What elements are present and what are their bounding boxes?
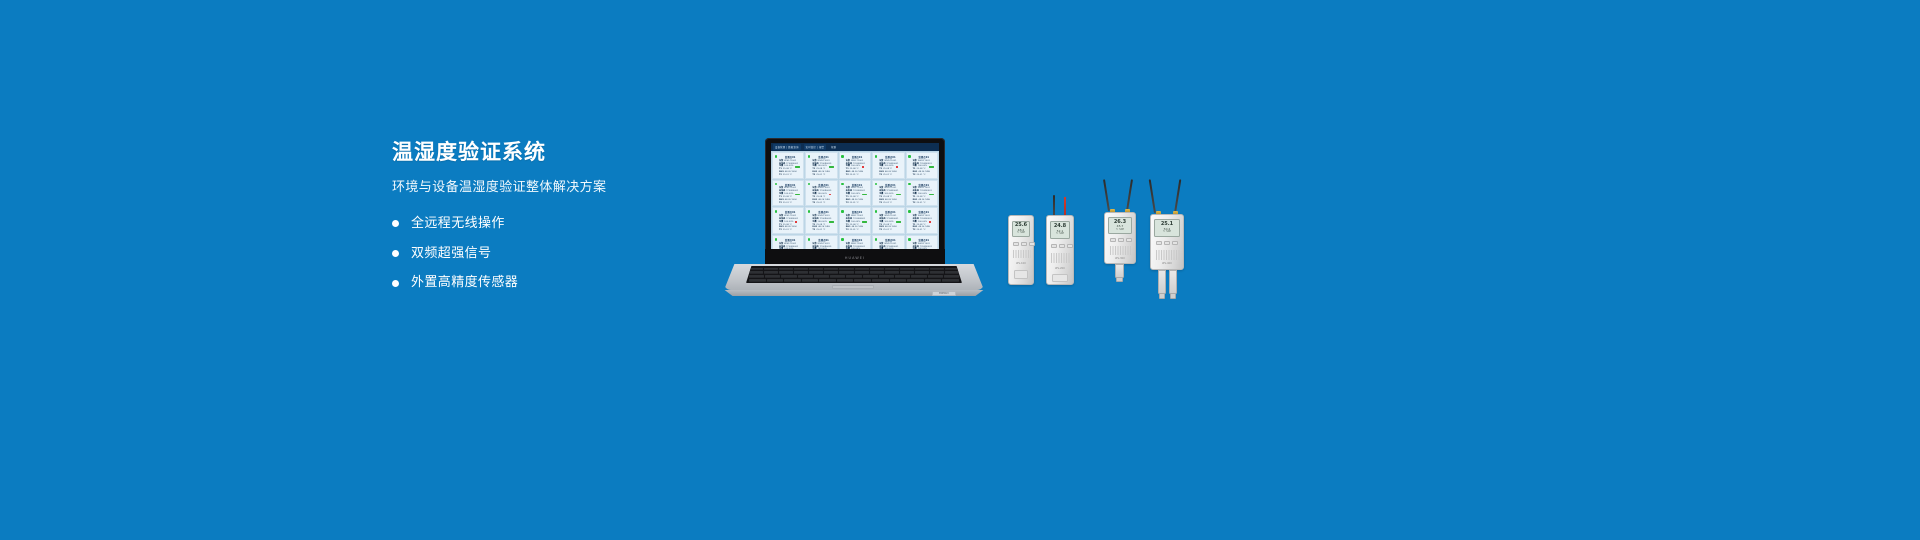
device-probe-logger-long: 25.1 50.4 ℃ %RH WS-400 <box>1150 179 1184 309</box>
row-value: 25.01 ℃ <box>916 174 925 177</box>
keyboard-key[interactable] <box>830 275 845 278</box>
monitor-card-title: 监测点01 <box>812 210 834 214</box>
monitor-card[interactable]: 监测点01设备WSD-T1001采集器TC00R0001电量100.00%T12… <box>872 207 904 234</box>
monitor-card-title: 监测点01 <box>812 238 834 242</box>
keypad-button[interactable] <box>1051 244 1057 248</box>
row-key: T2 <box>779 229 782 232</box>
device-lcd-display: 26.3 45.7 ℃ %RH <box>1108 217 1132 234</box>
keyboard-key[interactable] <box>945 268 959 271</box>
device-lower-panel <box>1052 274 1068 282</box>
monitor-card[interactable]: 监测点01设备WSD-T1001采集器TC00R0001电量100.00%T12… <box>839 235 871 249</box>
device-keypad[interactable] <box>1051 244 1073 248</box>
keyboard-key[interactable] <box>846 275 861 278</box>
keyboard-key[interactable] <box>855 268 869 271</box>
status-dot-icon <box>875 155 878 158</box>
keyboard-key[interactable] <box>802 279 819 282</box>
keyboard-key[interactable] <box>915 271 929 274</box>
keyboard-key[interactable] <box>781 275 796 278</box>
monitor-card[interactable]: 监测点01设备WSD-T1001采集器TC00R0001电量100.00%T12… <box>805 152 837 179</box>
keyboard-key[interactable] <box>794 271 808 274</box>
keyboard-key[interactable] <box>779 271 793 274</box>
monitor-card-row: T225.01 ℃ <box>913 229 935 232</box>
keypad-button[interactable] <box>1126 238 1132 242</box>
device-vent <box>1156 250 1180 260</box>
monitor-card-row: T225.01 ℃ <box>846 229 868 232</box>
keyboard-key[interactable] <box>837 279 854 282</box>
device-lcd-display: 25.1 50.4 ℃ %RH <box>1154 219 1180 237</box>
row-value: 25.01 ℃ <box>916 229 925 232</box>
monitor-card[interactable]: 监测点01设备WSD-T1001采集器TC00R0001电量100.00%T12… <box>839 152 871 179</box>
keyboard-key[interactable] <box>839 268 853 271</box>
keypad-button[interactable] <box>1059 244 1065 248</box>
row-key: T2 <box>913 229 916 232</box>
monitor-card[interactable]: 监测点01设备WSD-T1001采集器TC00R0001电量100.00%T12… <box>772 235 804 249</box>
row-key: T2 <box>779 174 782 177</box>
lcd-unit-label: ℃ %RH <box>1163 231 1171 233</box>
device-vent <box>1013 250 1031 258</box>
row-value: 25.01 ℃ <box>783 174 792 177</box>
row-key: T2 <box>846 229 849 232</box>
status-dot-icon <box>875 210 878 213</box>
monitor-card[interactable]: 监测点01设备WSD-T1001采集器TC00R0001电量100.00%T12… <box>839 180 871 207</box>
row-key: T2 <box>913 202 916 205</box>
status-dot-icon <box>775 238 778 241</box>
row-key: T2 <box>812 174 815 177</box>
monitor-card-row: T225.01 ℃ <box>812 174 834 177</box>
laptop-keyboard[interactable] <box>746 266 962 283</box>
monitor-card[interactable]: 监测点01设备WSD-T1001采集器TC00R0001电量100.00%T12… <box>906 152 938 179</box>
status-dot-icon <box>775 155 778 158</box>
monitor-card-title: 监测点01 <box>913 210 935 214</box>
keyboard-row[interactable] <box>749 279 959 282</box>
lcd-unit-label: ℃ %RH <box>1017 232 1025 234</box>
monitor-card-row: T225.01 ℃ <box>846 174 868 177</box>
row-key: T2 <box>812 202 815 205</box>
keyboard-key[interactable] <box>809 268 823 271</box>
monitor-card-grid: 监测点01设备WSD-T1001采集器TC00R0001电量100.00%T12… <box>771 151 939 249</box>
row-key: T2 <box>879 174 882 177</box>
keyboard-key[interactable] <box>911 275 926 278</box>
laptop-lid: 设备管理 | 数据查询 实时监控 | 报警 帮助 监测点01设备WSD-T100… <box>765 138 945 266</box>
keyboard-key[interactable] <box>890 279 907 282</box>
keyboard-key[interactable] <box>839 271 853 274</box>
keyboard-key[interactable] <box>764 268 778 271</box>
keyboard-key[interactable] <box>855 271 869 274</box>
status-dot-icon <box>841 183 844 186</box>
row-key: T2 <box>879 202 882 205</box>
device-handheld-logger-antenna: 24.8 52.1 ℃ %RH WS-200 <box>1046 195 1074 285</box>
laptop-illustration: 设备管理 | 数据查询 实时监控 | 报警 帮助 监测点01设备WSD-T100… <box>720 138 988 298</box>
monitor-card-title: 监测点01 <box>879 210 901 214</box>
row-key: T2 <box>846 174 849 177</box>
monitor-card-title: 监测点01 <box>879 238 901 242</box>
monitor-card-title: 监测点01 <box>846 238 868 242</box>
monitor-card-row: T225.01 ℃ <box>779 174 801 177</box>
keyboard-row[interactable] <box>749 268 959 271</box>
laptop-screen: 设备管理 | 数据查询 实时监控 | 报警 帮助 监测点01设备WSD-T100… <box>771 143 939 249</box>
bullet-dot-icon <box>392 250 399 257</box>
probe-sensor-tip <box>1159 293 1165 299</box>
keyboard-key[interactable] <box>885 268 899 271</box>
keyboard-key[interactable] <box>749 271 763 274</box>
keyboard-key[interactable] <box>819 279 836 282</box>
monitor-card-title: 监测点01 <box>913 155 935 159</box>
monitor-card-row: T225.01 ℃ <box>779 229 801 232</box>
row-value: 25.01 ℃ <box>850 174 859 177</box>
status-dot-icon <box>841 210 844 213</box>
list-item: 外置高精度传感器 <box>392 275 722 291</box>
keyboard-key[interactable] <box>930 268 944 271</box>
status-dot-icon <box>908 155 911 158</box>
monitor-card-title: 监测点01 <box>913 238 935 242</box>
keyboard-key[interactable] <box>814 275 829 278</box>
keyboard-key[interactable] <box>784 279 801 282</box>
device-probe-logger-dual: 26.3 45.7 ℃ %RH WS-300 <box>1104 179 1136 285</box>
status-dot-icon <box>875 183 878 186</box>
keyboard-key[interactable] <box>945 271 959 274</box>
list-item: 全远程无线操作 <box>392 216 722 232</box>
keyboard-key[interactable] <box>872 279 889 282</box>
monitor-card-title: 监测点01 <box>779 155 801 159</box>
keyboard-key[interactable] <box>749 279 766 282</box>
device-shell: 26.3 45.7 ℃ %RH WS-300 <box>1104 212 1136 264</box>
row-value: 25.01 ℃ <box>883 202 892 205</box>
status-dot-icon <box>808 238 811 241</box>
monitor-card[interactable]: 监测点01设备WSD-T1001采集器TC00R0001电量100.00%T12… <box>772 152 804 179</box>
monitor-card-title: 监测点01 <box>812 155 834 159</box>
row-key: T2 <box>812 229 815 232</box>
keyboard-key[interactable] <box>915 268 929 271</box>
status-dot-icon <box>808 183 811 186</box>
monitor-card-title: 监测点01 <box>846 210 868 214</box>
feature-list: 全远程无线操作 双频超强信号 外置高精度传感器 <box>392 216 722 291</box>
monitor-card-title: 监测点01 <box>779 238 801 242</box>
keyboard-key[interactable] <box>928 275 943 278</box>
list-item: 双频超强信号 <box>392 246 722 262</box>
monitor-card[interactable]: 监测点01设备WSD-T1001采集器TC00R0001电量100.00%T12… <box>805 207 837 234</box>
monitor-card[interactable]: 监测点01设备WSD-T1001采集器TC00R0001电量100.00%T12… <box>872 180 904 207</box>
keyboard-key[interactable] <box>767 279 784 282</box>
keyboard-key[interactable] <box>765 275 780 278</box>
hero-banner: 温湿度验证系统 环境与设备温湿度验证整体解决方案 全远程无线操作 双频超强信号 … <box>0 0 1920 540</box>
monitor-card-row: T225.01 ℃ <box>879 174 901 177</box>
keyboard-key[interactable] <box>749 275 764 278</box>
device-keypad[interactable] <box>1013 242 1035 246</box>
row-value: 25.01 ℃ <box>783 229 792 232</box>
row-value: 25.01 ℃ <box>783 202 792 205</box>
device-lower-panel <box>1014 270 1028 279</box>
feature-label: 双频超强信号 <box>411 246 491 262</box>
keypad-button[interactable] <box>1156 241 1162 245</box>
keyboard-key[interactable] <box>863 275 878 278</box>
device-lcd-display: 24.8 52.1 ℃ %RH <box>1050 221 1070 239</box>
laptop-sticker: ENERGY <box>932 291 956 296</box>
keypad-button[interactable] <box>1013 242 1019 246</box>
antenna-left-icon <box>1053 195 1055 217</box>
device-model-label: WS-400 <box>1151 262 1183 265</box>
row-value: 25.01 ℃ <box>816 202 825 205</box>
lcd-unit-label: ℃ %RH <box>1116 229 1124 231</box>
keyboard-key[interactable] <box>798 275 813 278</box>
keyboard-key[interactable] <box>749 268 763 271</box>
monitor-card-row: T225.01 ℃ <box>879 202 901 205</box>
menu-item-2[interactable]: 帮助 <box>829 144 838 150</box>
monitor-card-row: T225.01 ℃ <box>812 229 834 232</box>
keyboard-key[interactable] <box>779 268 793 271</box>
device-vent <box>1051 253 1071 263</box>
probe-wire <box>1064 197 1066 217</box>
row-value: 25.01 ℃ <box>816 229 825 232</box>
row-key: T2 <box>879 229 882 232</box>
app-header-bar: 设备管理 | 数据查询 实时监控 | 报警 帮助 <box>771 143 939 151</box>
device-lcd-display: 25.6 48.2 ℃ %RH <box>1012 221 1030 237</box>
bullet-dot-icon <box>392 220 399 227</box>
monitor-card-title: 监测点01 <box>879 155 901 159</box>
probe-sensor-tip <box>1116 277 1123 282</box>
row-value: 25.01 ℃ <box>850 229 859 232</box>
status-dot-icon <box>841 155 844 158</box>
device-shell: 25.1 50.4 ℃ %RH WS-400 <box>1150 214 1184 270</box>
device-shell: 25.6 48.2 ℃ %RH WS-100 <box>1008 215 1034 285</box>
feature-label: 外置高精度传感器 <box>411 275 518 291</box>
monitor-card[interactable]: 监测点01设备WSD-T1001采集器TC00R0001电量100.00%T12… <box>872 152 904 179</box>
keypad-button[interactable] <box>1118 238 1124 242</box>
keyboard-key[interactable] <box>870 268 884 271</box>
page-subtitle: 环境与设备温湿度验证整体解决方案 <box>392 180 722 197</box>
keypad-button[interactable] <box>1021 242 1027 246</box>
status-dot-icon <box>808 155 811 158</box>
keyboard-key[interactable] <box>942 279 959 282</box>
device-model-label: WS-200 <box>1047 267 1073 270</box>
row-key: T2 <box>846 202 849 205</box>
status-dot-icon <box>775 183 778 186</box>
device-model-label: WS-300 <box>1105 257 1135 260</box>
monitor-card[interactable]: 监测点01设备WSD-T1001采集器TC00R0001电量100.00%T12… <box>772 180 804 207</box>
keyboard-key[interactable] <box>824 268 838 271</box>
antenna-left-icon <box>1103 179 1110 211</box>
keypad-button[interactable] <box>1067 244 1073 248</box>
monitor-card[interactable]: 监测点01设备WSD-T1001采集器TC00R0001电量100.00%T12… <box>906 180 938 207</box>
keypad-button[interactable] <box>1029 242 1035 246</box>
probe-sensor-stick <box>1115 264 1124 278</box>
status-dot-icon <box>908 210 911 213</box>
keyboard-key[interactable] <box>907 279 924 282</box>
menu-item-0[interactable]: 设备管理 | 数据查询 <box>773 144 801 150</box>
keyboard-key[interactable] <box>809 271 823 274</box>
monitor-card-row: T225.01 ℃ <box>779 202 801 205</box>
monitor-card-row: T225.01 ℃ <box>913 174 935 177</box>
monitor-card[interactable]: 监测点01设备WSD-T1001采集器TC00R0001电量100.00%T12… <box>805 180 837 207</box>
keyboard-key[interactable] <box>879 275 894 278</box>
probe-sensor-stick-2 <box>1169 270 1177 294</box>
keypad-button[interactable] <box>1164 241 1170 245</box>
monitor-card-title: 监测点01 <box>779 210 801 214</box>
lcd-unit-label: ℃ %RH <box>1056 233 1064 235</box>
antenna-left-icon <box>1149 179 1156 213</box>
monitor-card-title: 监测点01 <box>846 155 868 159</box>
device-keypad[interactable] <box>1156 241 1178 245</box>
status-dot-icon <box>908 183 911 186</box>
status-dot-icon <box>775 210 778 213</box>
keyboard-key[interactable] <box>895 275 910 278</box>
feature-label: 全远程无线操作 <box>411 216 505 232</box>
status-dot-icon <box>875 238 878 241</box>
sensor-device-group: 25.6 48.2 ℃ %RH WS-100 24.8 <box>1000 175 1220 315</box>
keyboard-key[interactable] <box>944 275 959 278</box>
device-handheld-logger-small: 25.6 48.2 ℃ %RH WS-100 <box>1008 215 1034 285</box>
brand-label: HUAWEI <box>845 256 865 260</box>
monitor-card[interactable]: 监测点01设备WSD-T1001采集器TC00R0001电量100.00%T12… <box>872 235 904 249</box>
row-value: 25.01 ℃ <box>816 174 825 177</box>
keypad-button[interactable] <box>1110 238 1116 242</box>
keyboard-key[interactable] <box>900 271 914 274</box>
status-dot-icon <box>808 210 811 213</box>
row-key: T2 <box>779 202 782 205</box>
monitor-card-row: T225.01 ℃ <box>913 202 935 205</box>
monitor-card[interactable]: 监测点01设备WSD-T1001采集器TC00R0001电量100.00%T12… <box>839 207 871 234</box>
monitor-card[interactable]: 监测点01设备WSD-T1001采集器TC00R0001电量100.00%T12… <box>906 207 938 234</box>
keyboard-row[interactable] <box>749 271 959 274</box>
keyboard-key[interactable] <box>764 271 778 274</box>
monitor-card[interactable]: 监测点01设备WSD-T1001采集器TC00R0001电量100.00%T12… <box>772 207 804 234</box>
row-value: 25.01 ℃ <box>883 174 892 177</box>
monitor-card[interactable]: 监测点01设备WSD-T1001采集器TC00R0001电量100.00%T12… <box>805 235 837 249</box>
keyboard-key[interactable] <box>854 279 871 282</box>
antenna-right-icon <box>1126 179 1133 211</box>
monitor-card-row: T225.01 ℃ <box>879 229 901 232</box>
antenna-right-icon <box>1174 179 1181 213</box>
keyboard-key[interactable] <box>824 271 838 274</box>
keyboard-key[interactable] <box>870 271 884 274</box>
keyboard-key[interactable] <box>885 271 899 274</box>
laptop-trackpad[interactable] <box>832 285 874 289</box>
monitor-card[interactable]: 监测点01设备WSD-T1001采集器TC00R0001电量100.00%T12… <box>906 235 938 249</box>
device-model-label: WS-100 <box>1009 262 1033 265</box>
laptop-base: ENERGY <box>720 264 988 298</box>
probe-sensor-stick <box>1158 270 1166 294</box>
keyboard-key[interactable] <box>925 279 942 282</box>
menu-item-1[interactable]: 实时监控 | 报警 <box>804 144 826 150</box>
device-shell: 24.8 52.1 ℃ %RH WS-200 <box>1046 215 1074 285</box>
keyboard-key[interactable] <box>794 268 808 271</box>
status-dot-icon <box>841 238 844 241</box>
monitor-card-row: T225.01 ℃ <box>846 202 868 205</box>
row-value: 25.01 ℃ <box>916 202 925 205</box>
status-dot-icon <box>908 238 911 241</box>
device-keypad[interactable] <box>1110 238 1132 242</box>
row-key: T2 <box>913 174 916 177</box>
keyboard-key[interactable] <box>900 268 914 271</box>
probe-sensor-tip-2 <box>1170 293 1176 299</box>
keypad-button[interactable] <box>1172 241 1178 245</box>
page-title: 温湿度验证系统 <box>392 140 722 165</box>
monitor-card-row: T225.01 ℃ <box>812 202 834 205</box>
bullet-dot-icon <box>392 280 399 287</box>
keyboard-row[interactable] <box>749 275 959 278</box>
row-value: 25.01 ℃ <box>883 229 892 232</box>
row-value: 25.01 ℃ <box>850 202 859 205</box>
device-vent <box>1110 246 1132 255</box>
hero-copy-block: 温湿度验证系统 环境与设备温湿度验证整体解决方案 全远程无线操作 双频超强信号 … <box>392 140 722 305</box>
keyboard-key[interactable] <box>930 271 944 274</box>
